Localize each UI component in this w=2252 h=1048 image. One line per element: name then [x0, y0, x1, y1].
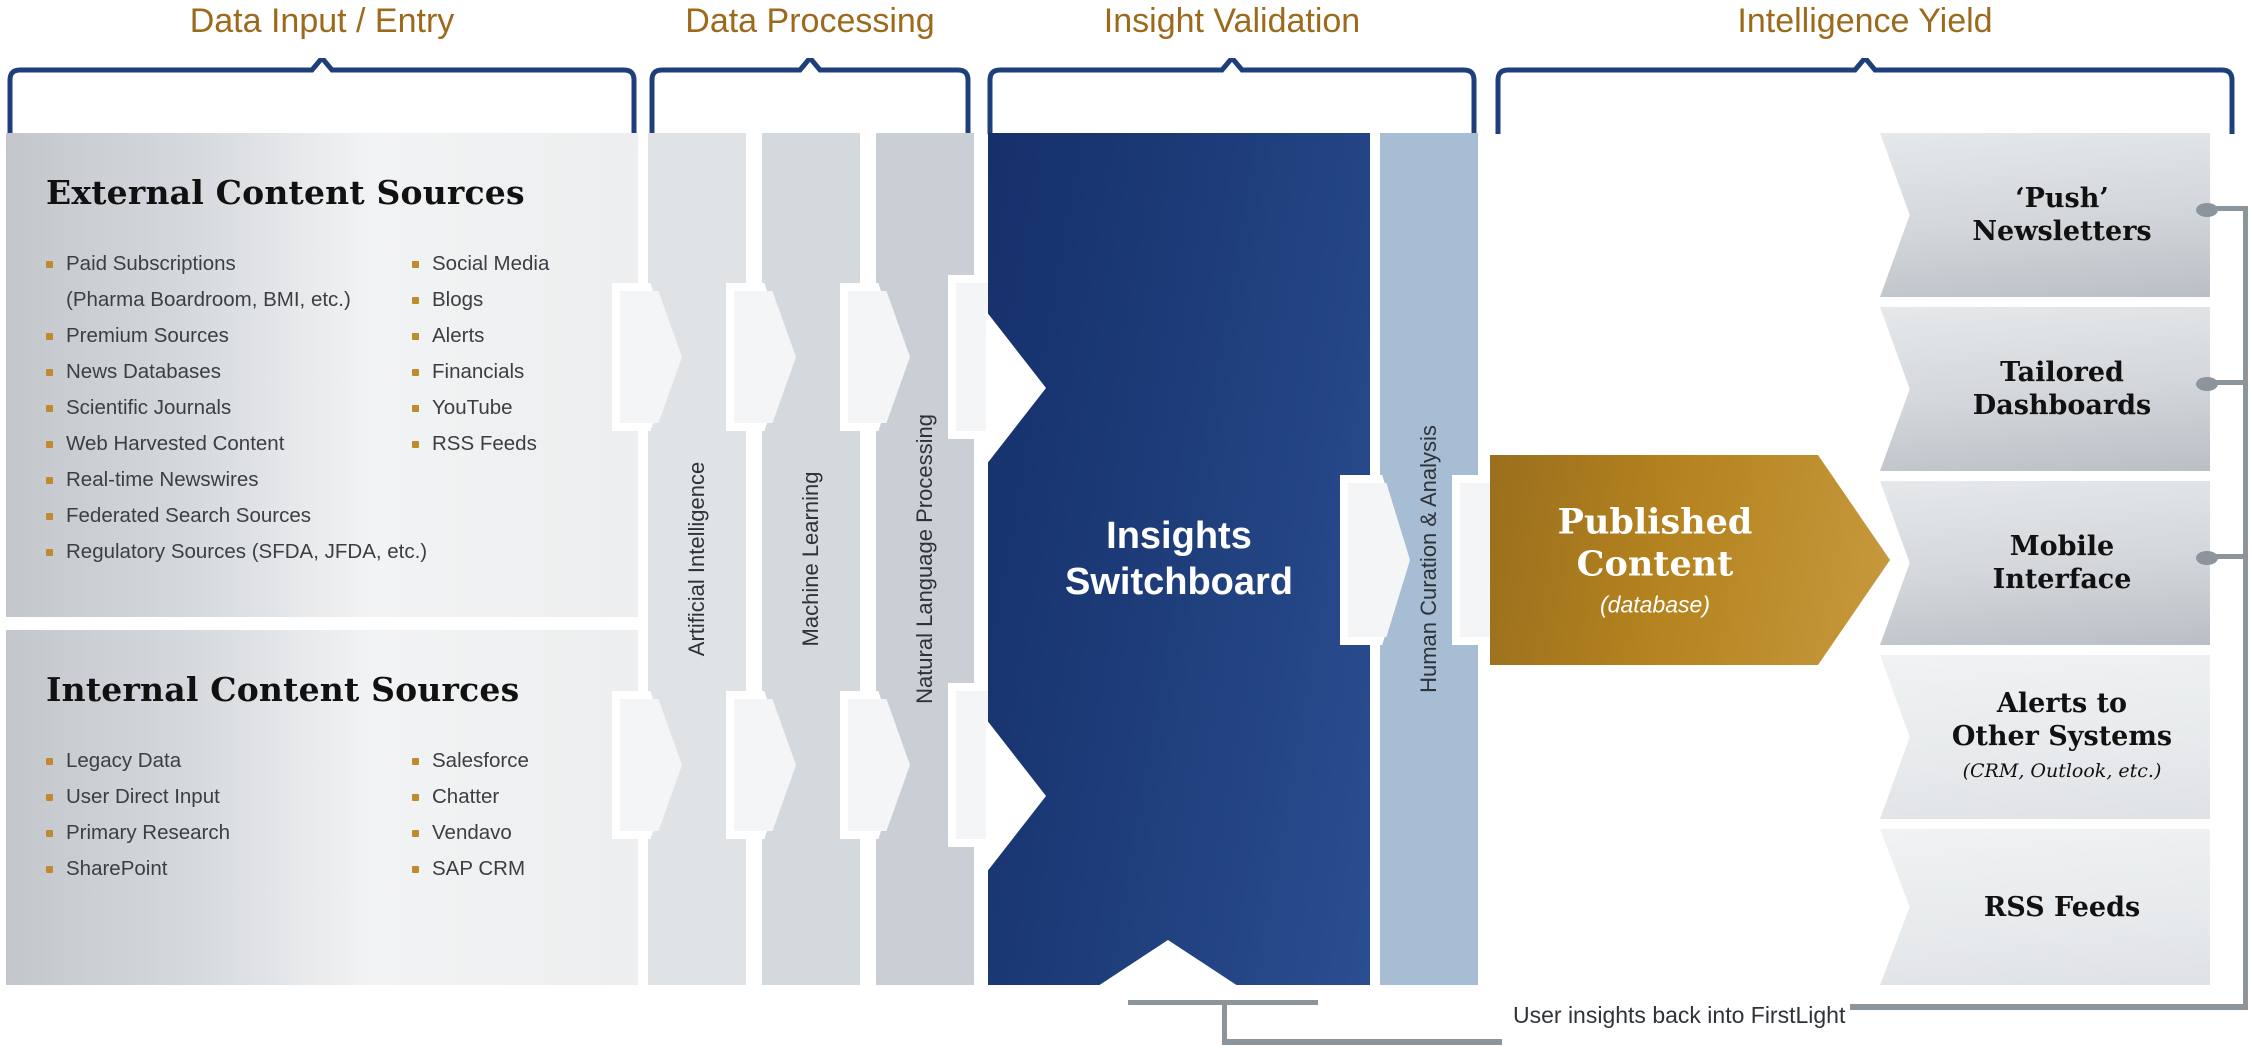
list-item: Primary Research	[40, 815, 370, 851]
list-item: Scientific Journals	[40, 390, 370, 426]
feedback-return-bottom	[1222, 1039, 1502, 1045]
processing-label-machine-learning: Machine Learning	[798, 472, 824, 647]
bracket-insight-validation	[986, 58, 1478, 134]
processing-column-machine-learning: Machine Learning	[762, 133, 860, 985]
switchboard-line-1: Insights	[1106, 515, 1252, 557]
list-item: RSS Feeds	[406, 426, 626, 462]
output-line-2: Interface	[1993, 564, 2132, 595]
list-item: (Pharma Boardroom, BMI, etc.)	[40, 282, 370, 318]
published-content-subtitle: (database)	[1490, 592, 1820, 619]
phase-title-data-processing: Data Processing	[648, 2, 972, 41]
output-line-2: Newsletters	[1972, 216, 2151, 247]
output-line-1: Tailored	[2000, 357, 2124, 388]
feedback-bus-vertical	[2243, 206, 2248, 1009]
list-item: Paid Subscriptions	[40, 246, 370, 282]
switchboard-feedback-notch-icon	[1098, 940, 1238, 986]
feedback-loop-label: User insights back into FirstLight	[1513, 1002, 1845, 1029]
switchboard-notch-icon	[986, 311, 1046, 465]
list-item: Blogs	[406, 282, 626, 318]
internal-content-sources-panel: Internal Content Sources Legacy Data Use…	[6, 630, 638, 985]
external-content-sources-panel: External Content Sources Paid Subscripti…	[6, 133, 638, 617]
internal-sources-title: Internal Content Sources	[46, 670, 519, 709]
list-item: Legacy Data	[40, 743, 370, 779]
list-item: Real-time Newswires	[40, 462, 370, 498]
processing-column-artificial-intelligence: Artificial Intelligence	[648, 133, 746, 985]
published-content-label: Published Content (database)	[1490, 502, 1820, 619]
list-item: User Direct Input	[40, 779, 370, 815]
list-item: Salesforce	[406, 743, 626, 779]
list-item: Federated Search Sources	[40, 498, 370, 534]
external-sources-title: External Content Sources	[46, 173, 525, 212]
list-item: SharePoint	[40, 851, 370, 887]
feedback-bus-bottom	[1850, 1004, 2248, 1010]
internal-sources-column-1: Legacy Data User Direct Input Primary Re…	[40, 743, 370, 887]
external-sources-column-2: Social Media Blogs Alerts Financials You…	[406, 246, 626, 462]
processing-label-natural-language-processing: Natural Language Processing	[912, 414, 938, 704]
output-rss-feeds[interactable]: RSS Feeds	[1880, 829, 2210, 985]
output-alerts-to-other-systems[interactable]: Alerts to Other Systems (CRM, Outlook, e…	[1880, 655, 2210, 819]
insights-switchboard: Insights Switchboard	[988, 133, 1370, 985]
published-line-2: Content	[1577, 544, 1734, 585]
human-curation-label: Human Curation & Analysis	[1416, 425, 1442, 693]
list-item: Web Harvested Content	[40, 426, 370, 462]
switchboard-notch-icon	[986, 719, 1046, 873]
processing-column-nlp: Natural Language Processing	[876, 133, 974, 985]
switchboard-label: Insights Switchboard	[988, 513, 1370, 605]
list-item: YouTube	[406, 390, 626, 426]
list-item: Social Media	[406, 246, 626, 282]
output-line-1: Mobile	[2010, 531, 2114, 562]
output-label: ‘Push’ Newsletters	[1938, 182, 2151, 248]
internal-sources-column-2: Salesforce Chatter Vendavo SAP CRM	[406, 743, 626, 887]
bracket-intelligence-yield	[1494, 58, 2236, 134]
output-label: Tailored Dashboards	[1939, 356, 2151, 422]
bracket-data-processing	[648, 58, 972, 134]
list-item: Regulatory Sources (SFDA, JFDA, etc.)	[40, 534, 370, 570]
output-sublabel: (CRM, Outlook, etc.)	[1952, 755, 2172, 788]
external-sources-column-1: Paid Subscriptions (Pharma Boardroom, BM…	[40, 246, 370, 570]
published-line-1: Published	[1558, 502, 1753, 543]
list-item: Alerts	[406, 318, 626, 354]
list-item: Vendavo	[406, 815, 626, 851]
output-line-1: Alerts to	[1997, 688, 2127, 719]
published-content-title: Published Content	[1490, 502, 1820, 586]
output-line-1: RSS Feeds	[1984, 892, 2140, 923]
feedback-return-vertical	[1222, 1000, 1227, 1044]
output-mobile-interface[interactable]: Mobile Interface	[1880, 481, 2210, 645]
output-label: Alerts to Other Systems (CRM, Outlook, e…	[1918, 687, 2172, 788]
output-label: Mobile Interface	[1959, 530, 2132, 596]
diagram-canvas: Data Input / Entry Data Processing Insig…	[0, 0, 2252, 1048]
output-line-2: Dashboards	[1973, 390, 2151, 421]
output-line-1: ‘Push’	[2015, 183, 2109, 214]
list-item: Chatter	[406, 779, 626, 815]
list-item: Premium Sources	[40, 318, 370, 354]
phase-title-intelligence-yield: Intelligence Yield	[1494, 2, 2236, 41]
output-tailored-dashboards[interactable]: Tailored Dashboards	[1880, 307, 2210, 471]
phase-title-data-input: Data Input / Entry	[6, 2, 638, 41]
output-push-newsletters[interactable]: ‘Push’ Newsletters	[1880, 133, 2210, 297]
processing-label-artificial-intelligence: Artificial Intelligence	[684, 462, 710, 656]
published-content-arrow: Published Content (database)	[1490, 455, 1890, 665]
bracket-data-input	[6, 58, 638, 134]
output-line-2: Other Systems	[1952, 721, 2172, 752]
list-item: SAP CRM	[406, 851, 626, 887]
list-item: Financials	[406, 354, 626, 390]
list-item: News Databases	[40, 354, 370, 390]
phase-title-insight-validation: Insight Validation	[986, 2, 1478, 41]
output-label: RSS Feeds	[1950, 891, 2140, 924]
switchboard-line-2: Switchboard	[1065, 561, 1293, 603]
